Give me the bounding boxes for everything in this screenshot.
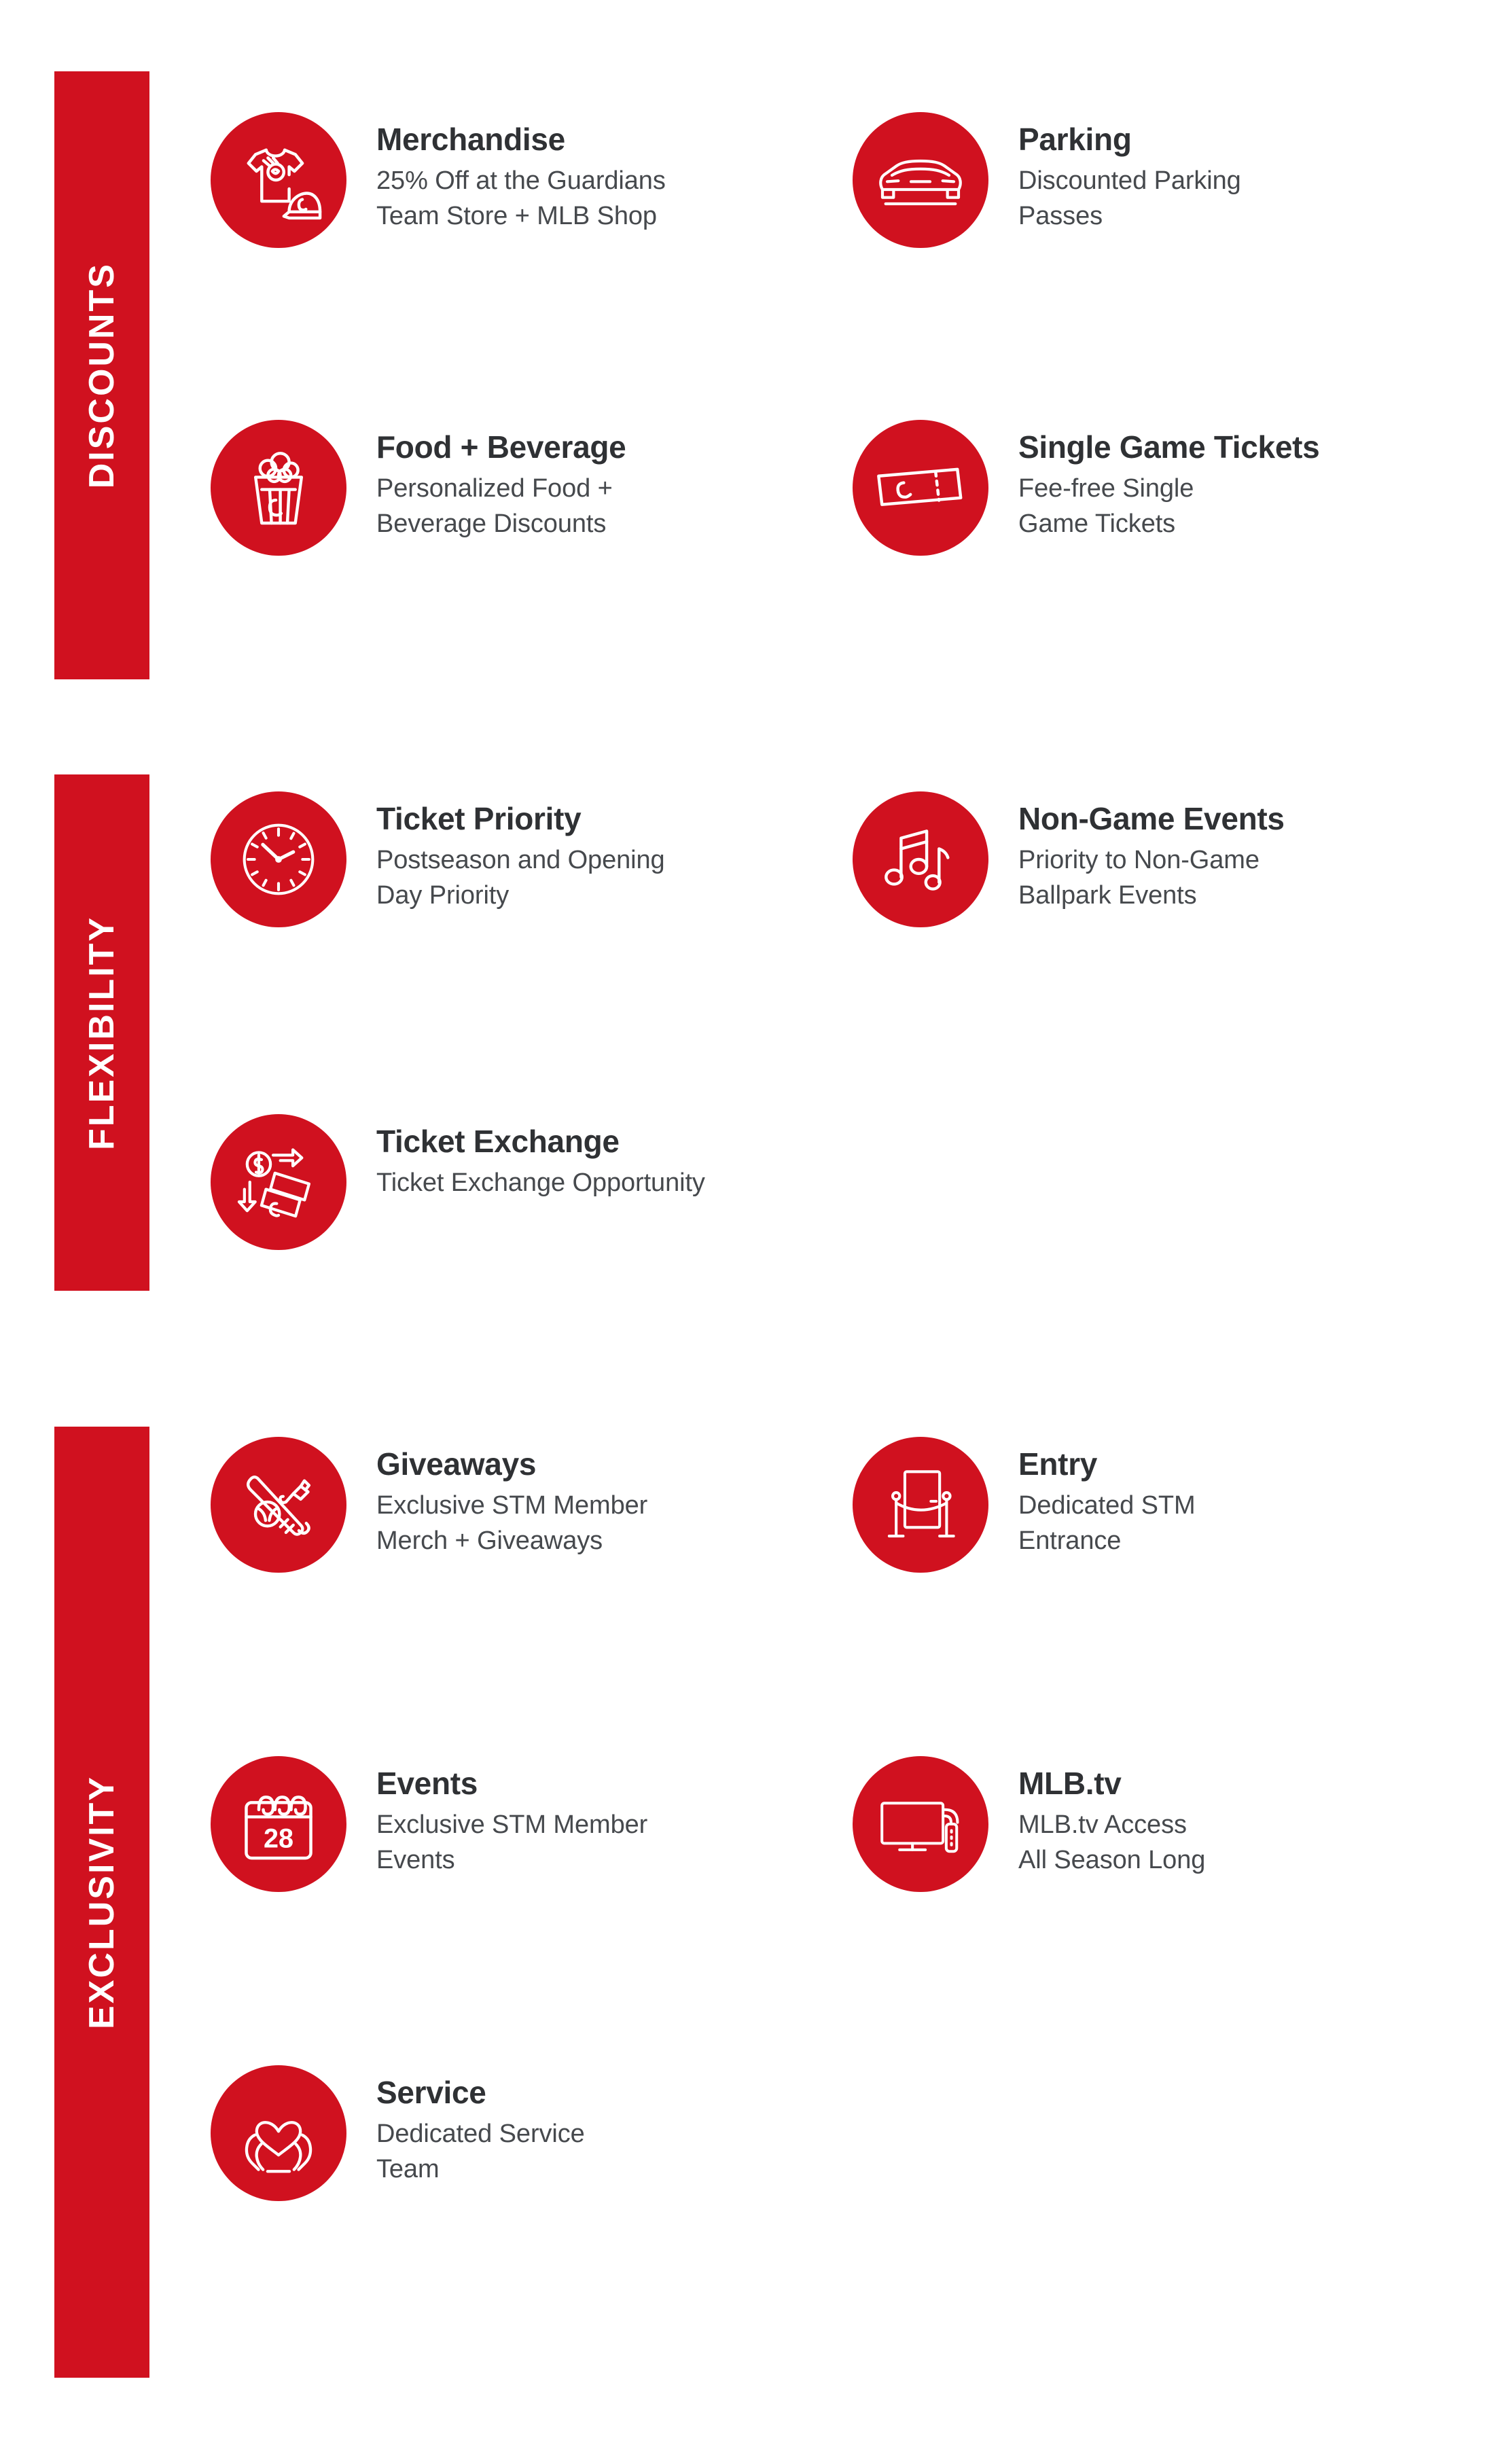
television-icon <box>872 1776 969 1872</box>
mlb-tv-text-block: MLB.tv MLB.tv Access All Season Long <box>1018 1756 1205 1878</box>
ticket-exchange-text-block: Ticket Exchange Ticket Exchange Opportun… <box>376 1114 705 1200</box>
parking-text-block: Parking Discounted Parking Passes <box>1018 112 1241 234</box>
bat-ball-icon <box>232 1459 325 1551</box>
feature-merchandise[interactable]: Merchandise 25% Off at the Guardians Tea… <box>211 112 666 248</box>
feature-entry[interactable]: Entry Dedicated STM Entrance <box>853 1437 1196 1573</box>
events-description: Exclusive STM Member Events <box>376 1807 647 1878</box>
food-beverage-title: Food + Beverage <box>376 429 626 466</box>
feature-service[interactable]: Service Dedicated Service Team <box>211 2065 585 2201</box>
ticket-exchange-badge <box>211 1114 346 1250</box>
car-icon <box>873 132 968 228</box>
food-beverage-description: Personalized Food + Beverage Discounts <box>376 471 626 542</box>
ticket-exchange-title: Ticket Exchange <box>376 1124 705 1160</box>
popcorn-icon <box>234 444 323 532</box>
ticket-priority-description: Postseason and Opening Day Priority <box>376 842 665 914</box>
stanchion-entrance-icon <box>877 1461 964 1548</box>
clock-icon <box>232 813 325 906</box>
single-game-tickets-text-block: Single Game Tickets Fee-free Single Game… <box>1018 420 1319 542</box>
non-game-events-title: Non-Game Events <box>1018 801 1285 838</box>
feature-ticket-exchange[interactable]: Ticket Exchange Ticket Exchange Opportun… <box>211 1114 705 1250</box>
merchandise-description: 25% Off at the Guardians Team Store + ML… <box>376 163 666 234</box>
music-note-icon <box>876 815 965 904</box>
events-title: Events <box>376 1766 647 1802</box>
service-title: Service <box>376 2075 585 2111</box>
entry-title: Entry <box>1018 1446 1196 1483</box>
non-game-events-badge <box>853 791 988 927</box>
parking-title: Parking <box>1018 122 1241 158</box>
ticket-priority-badge <box>211 791 346 927</box>
non-game-events-description: Priority to Non-Game Ballpark Events <box>1018 842 1285 914</box>
category-label-flexibility: FLEXIBILITY <box>84 916 120 1150</box>
service-text-block: Service Dedicated Service Team <box>376 2065 585 2188</box>
giveaways-title: Giveaways <box>376 1446 647 1483</box>
service-badge <box>211 2065 346 2201</box>
tshirt-cap-icon <box>234 136 323 224</box>
single-game-tickets-title: Single Game Tickets <box>1018 429 1319 466</box>
ticket-exchange-description: Ticket Exchange Opportunity <box>376 1165 705 1200</box>
feature-single-game-tickets[interactable]: Single Game Tickets Fee-free Single Game… <box>853 420 1319 556</box>
ticket-priority-text-block: Ticket Priority Postseason and Opening D… <box>376 791 665 914</box>
ticket-exchange-icon <box>234 1137 323 1227</box>
giveaways-description: Exclusive STM Member Merch + Giveaways <box>376 1488 647 1559</box>
feature-parking[interactable]: Parking Discounted Parking Passes <box>853 112 1241 248</box>
ticket-priority-title: Ticket Priority <box>376 801 665 838</box>
mlb-tv-description: MLB.tv Access All Season Long <box>1018 1807 1205 1878</box>
feature-giveaways[interactable]: Giveaways Exclusive STM Member Merch + G… <box>211 1437 647 1573</box>
parking-description: Discounted Parking Passes <box>1018 163 1241 234</box>
season-ticket-member-benefits-page: DISCOUNTS FLEXIBILITY EXCLUSIVITY <box>0 0 1500 2464</box>
giveaways-badge <box>211 1437 346 1573</box>
entry-badge <box>853 1437 988 1573</box>
entry-text-block: Entry Dedicated STM Entrance <box>1018 1437 1196 1559</box>
single-game-tickets-badge <box>853 420 988 556</box>
feature-non-game-events[interactable]: Non-Game Events Priority to Non-Game Bal… <box>853 791 1285 927</box>
parking-badge <box>853 112 988 248</box>
entry-description: Dedicated STM Entrance <box>1018 1488 1196 1559</box>
feature-events[interactable]: 28 Events Exclusive STM Member Events <box>211 1756 647 1892</box>
category-bar-flexibility: FLEXIBILITY <box>54 774 149 1291</box>
category-bar-discounts: DISCOUNTS <box>54 71 149 679</box>
merchandise-title: Merchandise <box>376 122 666 158</box>
calendar-28-icon: 28 <box>234 1779 323 1869</box>
single-game-tickets-description: Fee-free Single Game Tickets <box>1018 471 1319 542</box>
food-beverage-badge <box>211 420 346 556</box>
category-label-discounts: DISCOUNTS <box>84 262 120 488</box>
service-description: Dedicated Service Team <box>376 2116 585 2188</box>
ticket-icon <box>870 438 971 538</box>
non-game-events-text-block: Non-Game Events Priority to Non-Game Bal… <box>1018 791 1285 914</box>
category-bar-exclusivity: EXCLUSIVITY <box>54 1427 149 2378</box>
mlb-tv-badge <box>853 1756 988 1892</box>
events-badge: 28 <box>211 1756 346 1892</box>
food-beverage-text-block: Food + Beverage Personalized Food + Beve… <box>376 420 626 542</box>
feature-ticket-priority[interactable]: Ticket Priority Postseason and Opening D… <box>211 791 665 927</box>
mlb-tv-title: MLB.tv <box>1018 1766 1205 1802</box>
feature-food-beverage[interactable]: Food + Beverage Personalized Food + Beve… <box>211 420 626 556</box>
hands-heart-icon <box>233 2088 324 2179</box>
merchandise-badge <box>211 112 346 248</box>
giveaways-text-block: Giveaways Exclusive STM Member Merch + G… <box>376 1437 647 1559</box>
category-label-exclusivity: EXCLUSIVITY <box>84 1775 120 2029</box>
merchandise-text-block: Merchandise 25% Off at the Guardians Tea… <box>376 112 666 234</box>
calendar-day-number: 28 <box>264 1823 293 1853</box>
events-text-block: Events Exclusive STM Member Events <box>376 1756 647 1878</box>
feature-mlb-tv[interactable]: MLB.tv MLB.tv Access All Season Long <box>853 1756 1205 1892</box>
